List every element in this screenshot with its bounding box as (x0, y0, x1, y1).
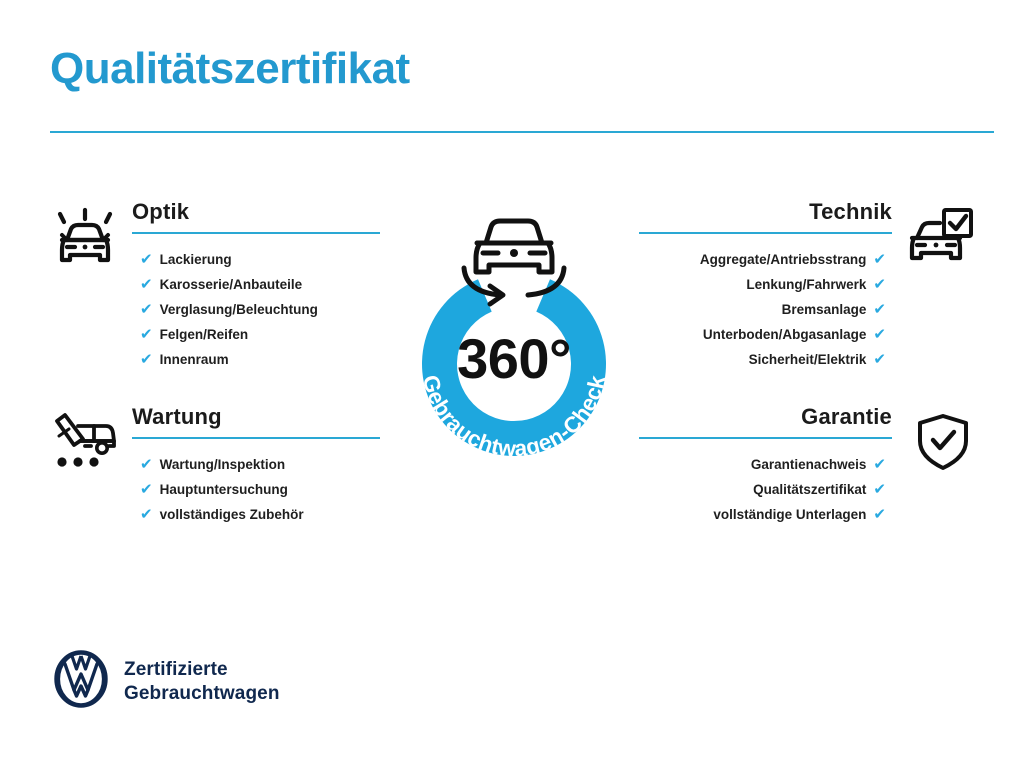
list-item-label: Qualitätszertifikat (753, 483, 866, 497)
check-icon: ✔ (140, 327, 153, 342)
list-item-label: Karosserie/Anbauteile (160, 278, 303, 292)
check-icon: ✔ (140, 457, 153, 472)
list-item-label: Hauptuntersuchung (160, 483, 288, 497)
check-icon: ✔ (873, 482, 886, 497)
section-divider-garantie (639, 437, 892, 439)
check-icon: ✔ (140, 252, 153, 267)
list-item-label: Lenkung/Fahrwerk (746, 278, 866, 292)
section-divider-wartung (132, 437, 380, 439)
check-icon: ✔ (873, 327, 886, 342)
car-service-pencil-icon (50, 409, 126, 475)
list-item-label: Innenraum (160, 353, 229, 367)
brand-line-1: Zertifizierte (124, 658, 280, 682)
list-item-label: Unterboden/Abgasanlage (703, 328, 867, 342)
vw-brand-lockup: Zertifizierte Gebrauchtwagen (52, 650, 280, 713)
list-item-label: Wartung/Inspektion (160, 458, 286, 472)
list-item-label: Verglasung/Beleuchtung (160, 303, 318, 317)
badge-center-label: 360° (457, 327, 571, 390)
list-item-label: Bremsanlage (782, 303, 867, 317)
check-icon: ✔ (873, 302, 886, 317)
badge-360-gebrauchtwagen-check: Gebrauchtwagen-Check 360° (374, 196, 654, 486)
check-icon: ✔ (140, 302, 153, 317)
list-item-label: Felgen/Reifen (160, 328, 249, 342)
list-item-label: Aggregate/Antriebsstrang (700, 253, 867, 267)
list-item-label: vollständige Unterlagen (713, 508, 866, 522)
section-divider-optik (132, 232, 380, 234)
list-item-label: Garantienachweis (751, 458, 867, 472)
check-icon: ✔ (873, 457, 886, 472)
check-icon: ✔ (140, 507, 153, 522)
check-icon: ✔ (873, 277, 886, 292)
check-icon: ✔ (873, 352, 886, 367)
certificate-page: Qualitätszertifikat Optik (0, 0, 1024, 768)
shield-check-icon (898, 409, 974, 475)
page-header: Qualitätszertifikat (50, 46, 994, 92)
check-icon: ✔ (140, 352, 153, 367)
list-item: vollständige Unterlagen ✔ (594, 507, 886, 532)
list-item-label: Lackierung (160, 253, 232, 267)
section-divider-technik (639, 232, 892, 234)
check-icon: ✔ (140, 277, 153, 292)
check-icon: ✔ (873, 252, 886, 267)
vw-logo (52, 650, 110, 713)
check-icon: ✔ (140, 482, 153, 497)
brand-text: Zertifizierte Gebrauchtwagen (124, 658, 280, 706)
check-icon: ✔ (873, 507, 886, 522)
car-checklist-icon (898, 204, 974, 270)
brand-line-2: Gebrauchtwagen (124, 682, 280, 706)
page-title: Qualitätszertifikat (50, 46, 994, 92)
list-item-label: Sicherheit/Elektrik (749, 353, 867, 367)
car-shine-icon (50, 204, 126, 270)
list-item-label: vollständiges Zubehör (160, 508, 304, 522)
title-divider (50, 131, 994, 133)
list-item: ✔ vollständiges Zubehör (140, 507, 430, 532)
